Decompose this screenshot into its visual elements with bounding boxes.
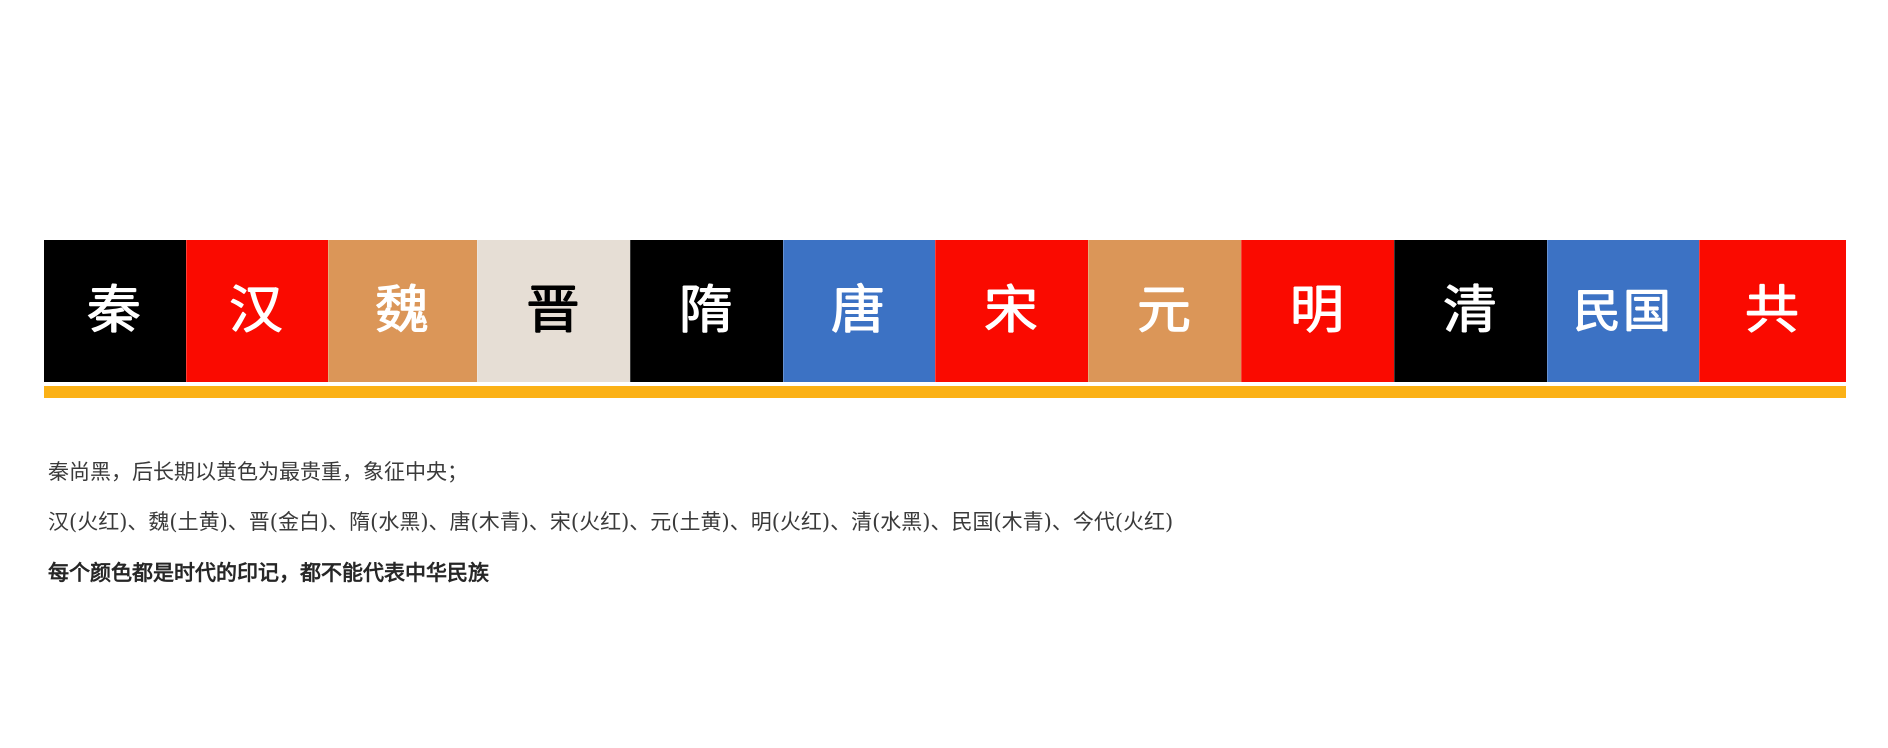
dynasty-cell-2[interactable]: 魏 xyxy=(328,240,477,382)
dynasty-color-band-section: 秦汉魏晋隋唐宋元明清民国共 xyxy=(44,240,1846,398)
dynasty-label: 隋 xyxy=(679,285,735,337)
dynasty-cell-0[interactable]: 秦 xyxy=(44,240,186,382)
caption-line-2: 汉(火红)、魏(土黄)、晋(金白)、隋(水黑)、唐(木青)、宋(火红)、元(土黄… xyxy=(48,512,1548,533)
dynasty-cell-1[interactable]: 汉 xyxy=(186,240,329,382)
dynasty-cell-11[interactable]: 共 xyxy=(1699,240,1846,382)
dynasty-label: 明 xyxy=(1290,285,1346,337)
dynasty-label: 民国 xyxy=(1573,288,1673,334)
caption-line-1: 秦尚黑，后长期以黄色为最贵重，象征中央； xyxy=(48,462,1548,483)
dynasty-label: 共 xyxy=(1745,285,1801,337)
dynasty-cell-3[interactable]: 晋 xyxy=(477,240,630,382)
dynasty-label: 元 xyxy=(1137,285,1193,337)
dynasty-label: 唐 xyxy=(831,285,887,337)
dynasty-cell-8[interactable]: 明 xyxy=(1241,240,1394,382)
dynasty-cell-10[interactable]: 民国 xyxy=(1547,240,1700,382)
dynasty-color-band: 秦汉魏晋隋唐宋元明清民国共 xyxy=(44,240,1846,382)
accent-rule xyxy=(44,386,1846,398)
dynasty-label: 清 xyxy=(1443,285,1499,337)
dynasty-cell-6[interactable]: 宋 xyxy=(935,240,1088,382)
dynasty-cell-7[interactable]: 元 xyxy=(1088,240,1241,382)
dynasty-label: 汉 xyxy=(229,285,285,337)
caption-line-3-emphasis: 每个颜色都是时代的印记，都不能代表中华民族 xyxy=(48,562,1548,583)
dynasty-cell-5[interactable]: 唐 xyxy=(783,240,936,382)
dynasty-label: 宋 xyxy=(984,285,1040,337)
dynasty-cell-9[interactable]: 清 xyxy=(1394,240,1547,382)
dynasty-label: 秦 xyxy=(87,285,143,337)
dynasty-label: 晋 xyxy=(526,285,582,337)
dynasty-label: 魏 xyxy=(375,285,431,337)
caption-block: 秦尚黑，后长期以黄色为最贵重，象征中央； 汉(火红)、魏(土黄)、晋(金白)、隋… xyxy=(48,462,1548,583)
dynasty-cell-4[interactable]: 隋 xyxy=(630,240,783,382)
